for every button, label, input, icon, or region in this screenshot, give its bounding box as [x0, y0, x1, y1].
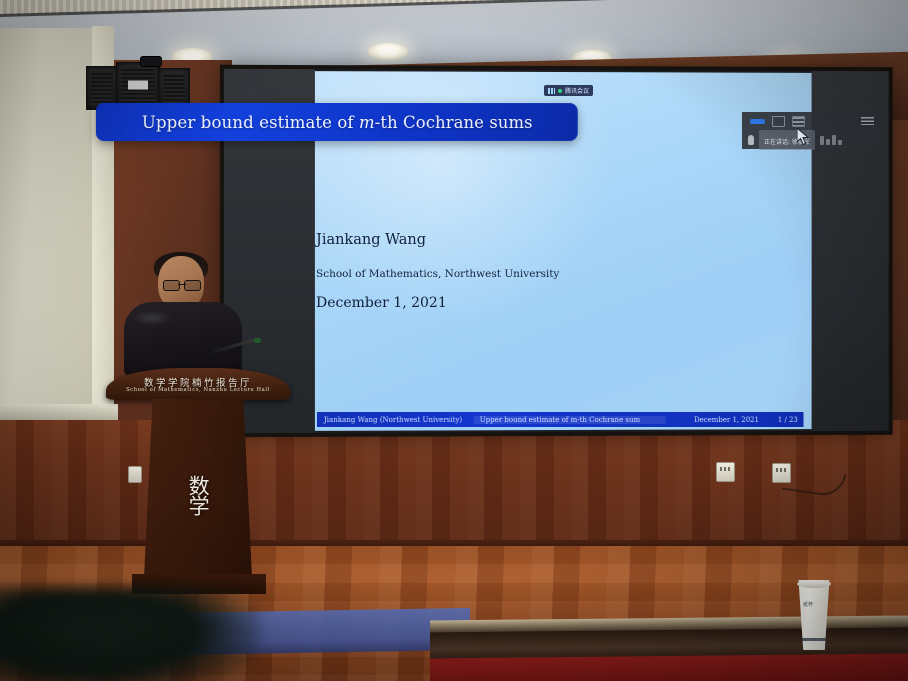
paper-cup: 纸杯 [796, 580, 832, 650]
venue-name-en: School of Mathematics, Nanzhu Lecture Ha… [106, 387, 290, 393]
foreground-silhouette [0, 588, 260, 681]
speaker-grill [163, 73, 185, 105]
lecture-hall-photo: Upper bound estimate of m-th Cochrane su… [0, 0, 908, 681]
podium-column: 数学 [144, 399, 252, 577]
speaker-grill [91, 71, 113, 105]
footer-page-number: 1 / 23 [759, 416, 804, 424]
ceiling-camera [140, 56, 162, 67]
status-dot-icon [558, 89, 562, 93]
cup-band [802, 638, 826, 641]
tencent-meeting-badge[interactable]: 腾讯会议 [544, 85, 593, 96]
slide-footer-bar: Jiankang Wang (Northwest University) Upp… [317, 412, 804, 427]
footer-title: Upper bound estimate of m-th Cochrane su… [474, 415, 666, 423]
cup-rim [797, 580, 831, 588]
signal-bars-icon [548, 88, 555, 94]
meeting-overlay-window[interactable]: 正在讲话: 徐福军 [742, 112, 882, 149]
podium-seal-emblem: 数学 [188, 475, 208, 515]
slide-title: Upper bound estimate of m-th Cochrane su… [142, 112, 533, 131]
footer-author: Jiankang Wang (Northwest University) [317, 415, 474, 423]
slide-date: December 1, 2021 [316, 295, 816, 311]
lecture-podium: 数学学院楠竹报告厅 School of Mathematics, Nanzhu … [104, 368, 292, 608]
mouse-cursor-icon [797, 128, 810, 146]
podium-header-board: 数学学院楠竹报告厅 School of Mathematics, Nanzhu … [106, 368, 290, 400]
minimize-icon[interactable] [750, 119, 765, 124]
microphone-tip-icon [254, 338, 261, 343]
slide-author: Jiankang Wang [316, 232, 816, 248]
slide-title-bar: Upper bound estimate of m-th Cochrane su… [96, 103, 578, 141]
eyeglasses-icon [163, 280, 201, 289]
downlight-2 [368, 43, 408, 60]
switch-buttons-icon [720, 467, 731, 471]
presenter-highlight [132, 310, 172, 326]
slide-title-variable: m [359, 113, 375, 132]
slide-affiliation: School of Mathematics, Northwest Univers… [316, 268, 816, 280]
speaking-indicator: 正在讲话: 徐福军 [748, 130, 842, 150]
floor-carpet [430, 653, 908, 681]
left-wall-panel [0, 28, 92, 428]
presenter-person [122, 252, 246, 374]
menu-icon[interactable] [861, 117, 874, 125]
speaker-badge [128, 81, 148, 90]
window-controls [750, 116, 805, 127]
cup-print-text: 纸杯 [803, 602, 813, 608]
audio-waveform-icon [820, 135, 842, 145]
maximize-icon[interactable] [772, 116, 785, 127]
wall-ledge [0, 404, 118, 420]
footer-date: December 1, 2021 [666, 416, 759, 424]
microphone-icon[interactable] [748, 135, 754, 145]
meeting-app-label: 腾讯会议 [565, 86, 589, 95]
layout-list-icon[interactable] [792, 116, 805, 127]
light-switch-plate[interactable] [716, 462, 735, 482]
